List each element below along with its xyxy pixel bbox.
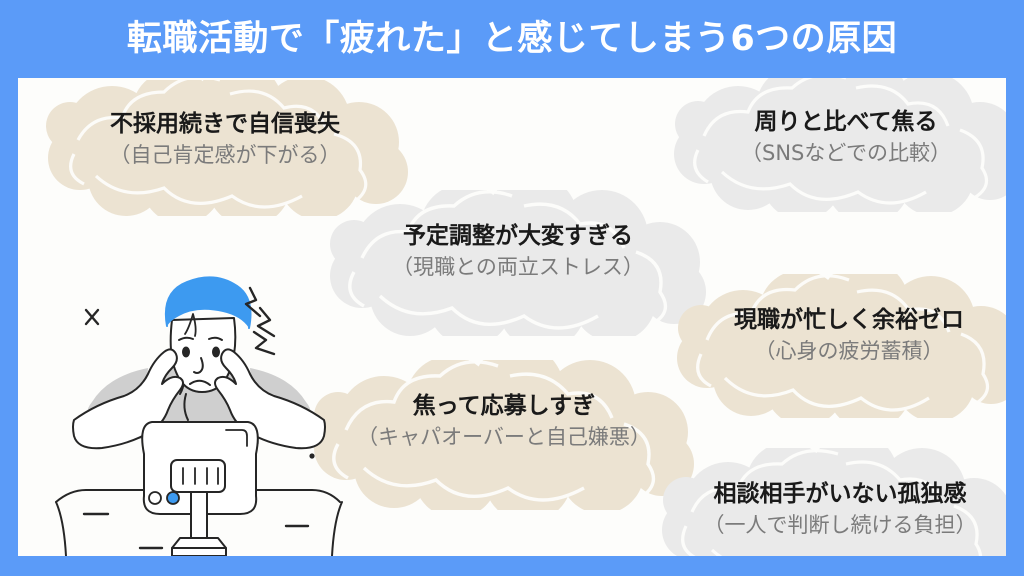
cause-main-text: 焦って応募しすぎ: [300, 392, 708, 421]
cause-sub-text: （一人で判断し続ける負担）: [656, 512, 1006, 538]
cause-label-applying-too-much: 焦って応募しすぎ （キャパオーバーと自己嫌悪）: [300, 392, 708, 450]
cause-label-schedule-adjustment: 予定調整が大変すぎる （現職との両立ストレス）: [318, 222, 718, 280]
page-title: 転職活動で「疲れた」と感じてしまう6つの原因: [127, 22, 897, 57]
cause-main-text: 周りと比べて焦る: [668, 108, 1006, 137]
cause-main-text: 予定調整が大変すぎる: [318, 222, 718, 251]
stressed-person-illustration: [54, 274, 344, 556]
cause-label-current-job-busy: 現職が忙しく余裕ゼロ （心身の疲労蓄積）: [673, 306, 1006, 364]
cause-sub-text: （心身の疲労蓄積）: [673, 338, 1006, 364]
cause-main-text: 相談相手がいない孤独感: [656, 480, 1006, 509]
cause-sub-text: （キャパオーバーと自己嫌悪）: [300, 424, 708, 450]
cause-main-text: 不採用続きで自信喪失: [34, 110, 416, 139]
title-bar: 転職活動で「疲れた」と感じてしまう6つの原因: [0, 0, 1024, 78]
cause-label-no-one-to-consult: 相談相手がいない孤独感 （一人で判断し続ける負担）: [656, 480, 1006, 538]
cause-label-comparing-with-others: 周りと比べて焦る （SNSなどでの比較）: [668, 108, 1006, 166]
cause-sub-text: （現職との両立ストレス）: [318, 254, 718, 280]
cause-sub-text: （SNSなどでの比較）: [668, 140, 1006, 166]
cause-label-rejection-confidence-loss: 不採用続きで自信喪失 （自己肯定感が下がる）: [34, 110, 416, 168]
slide-root: 転職活動で「疲れた」と感じてしまう6つの原因: [0, 0, 1024, 576]
cause-main-text: 現職が忙しく余裕ゼロ: [673, 306, 1006, 335]
content-panel: 不採用続きで自信喪失 （自己肯定感が下がる）: [18, 78, 1006, 556]
cause-sub-text: （自己肯定感が下がる）: [34, 142, 416, 168]
